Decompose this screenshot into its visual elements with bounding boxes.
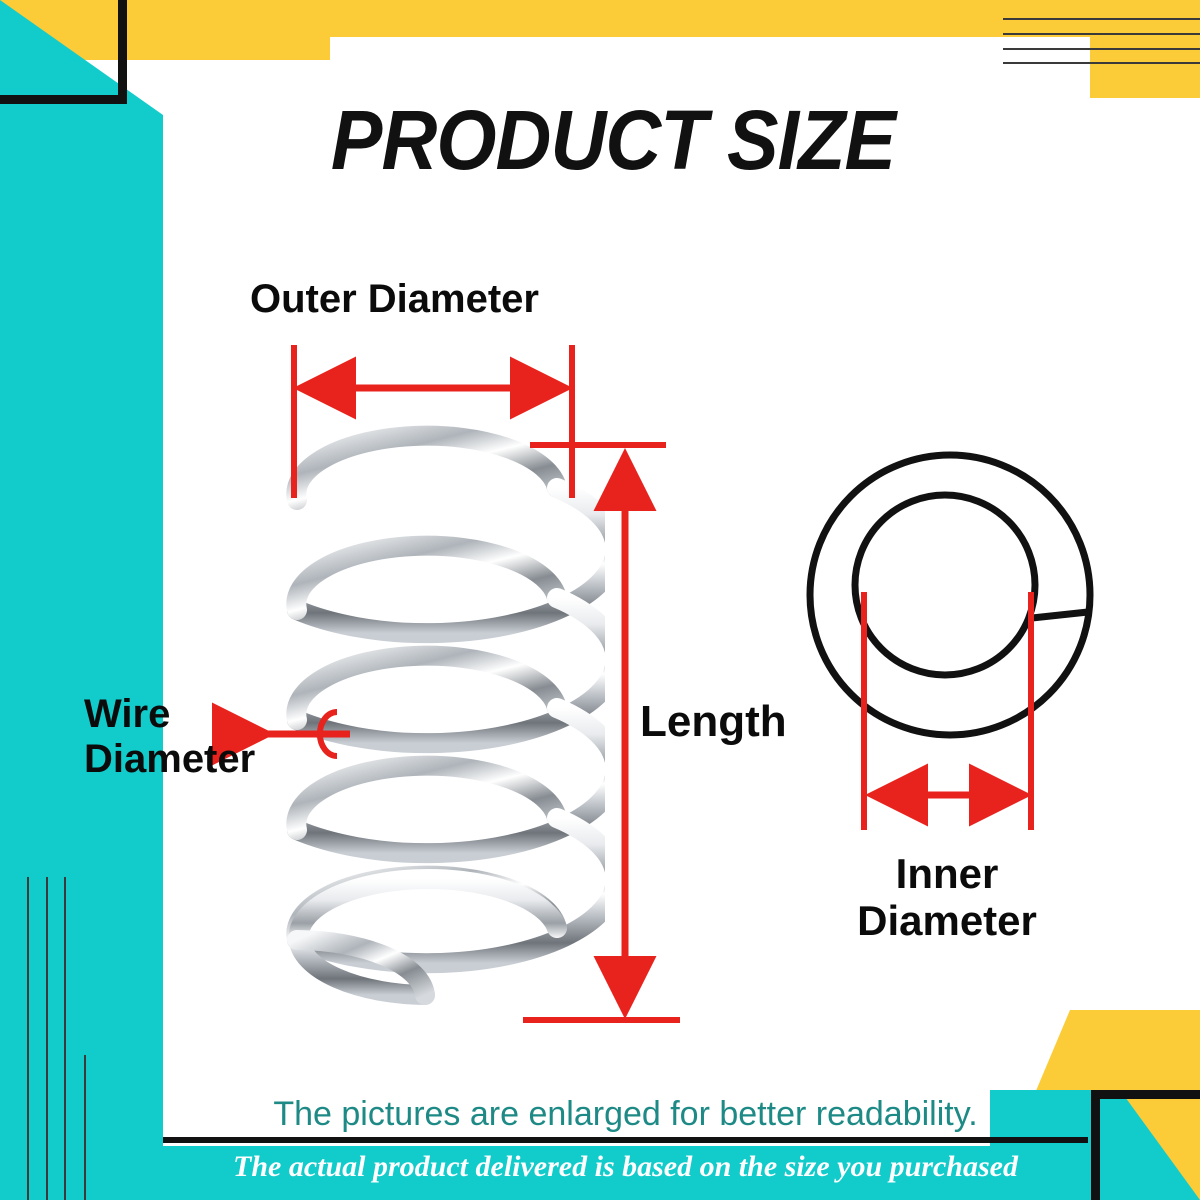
label-outer-diameter: Outer Diameter bbox=[250, 277, 539, 322]
page-title: PRODUCT SIZE bbox=[199, 92, 1027, 189]
left-teal-column bbox=[0, 0, 163, 1200]
label-inner-diameter-line1: Inner bbox=[812, 850, 1082, 897]
label-inner-diameter: Inner Diameter bbox=[812, 850, 1082, 944]
caption-readability: The pictures are enlarged for better rea… bbox=[163, 1095, 1088, 1134]
deco-hline-4 bbox=[1003, 62, 1200, 64]
deco-hline-1 bbox=[1003, 18, 1200, 20]
deco-hline-3 bbox=[1003, 48, 1200, 50]
label-inner-diameter-line2: Diameter bbox=[812, 897, 1082, 944]
frame-bottom-right-vertical bbox=[1091, 1090, 1100, 1200]
deco-vline-3 bbox=[64, 877, 66, 1200]
spring-top-view-ring-diagram bbox=[800, 440, 1120, 780]
frame-bottom-right-horizontal bbox=[1091, 1090, 1200, 1099]
deco-vline-1 bbox=[27, 877, 29, 1200]
caption-disclaimer: The actual product delivered is based on… bbox=[163, 1150, 1088, 1184]
frame-top-left-horizontal bbox=[0, 95, 127, 104]
label-length: Length bbox=[640, 697, 787, 746]
deco-vline-4 bbox=[84, 1055, 86, 1200]
frame-top-left-vertical bbox=[118, 0, 127, 104]
product-size-infographic: PRODUCT SIZE bbox=[0, 0, 1200, 1200]
label-wire-diameter: Wire Diameter bbox=[84, 692, 255, 782]
caption-divider-rule bbox=[163, 1137, 1088, 1143]
label-wire-diameter-line2: Diameter bbox=[84, 737, 255, 782]
coil-spring-illustration bbox=[275, 395, 605, 1045]
deco-vline-2 bbox=[46, 877, 48, 1200]
bottom-left-teal-block bbox=[0, 1085, 163, 1200]
deco-hline-2 bbox=[1003, 33, 1200, 35]
label-wire-diameter-line1: Wire bbox=[84, 692, 255, 737]
